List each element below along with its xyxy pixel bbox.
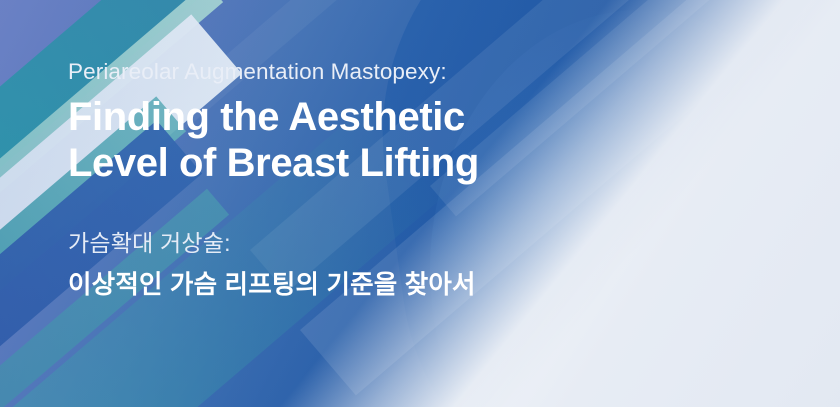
banner-korean-block: 가슴확대 거상술: 이상적인 가슴 리프팅의 기준을 찾아서	[68, 229, 688, 302]
banner-text-block: Periareolar Augmentation Mastopexy: Find…	[68, 58, 688, 302]
banner-korean-subtitle-1: 가슴확대 거상술:	[68, 229, 688, 259]
banner-eyebrow: Periareolar Augmentation Mastopexy:	[68, 58, 688, 86]
banner-korean-subtitle-2: 이상적인 가슴 리프팅의 기준을 찾아서	[68, 269, 688, 302]
banner-headline-line-1: Finding the Aesthetic	[68, 95, 688, 141]
banner-headline-line-2: Level of Breast Lifting	[68, 141, 688, 187]
banner-hero: Periareolar Augmentation Mastopexy: Find…	[0, 0, 840, 407]
